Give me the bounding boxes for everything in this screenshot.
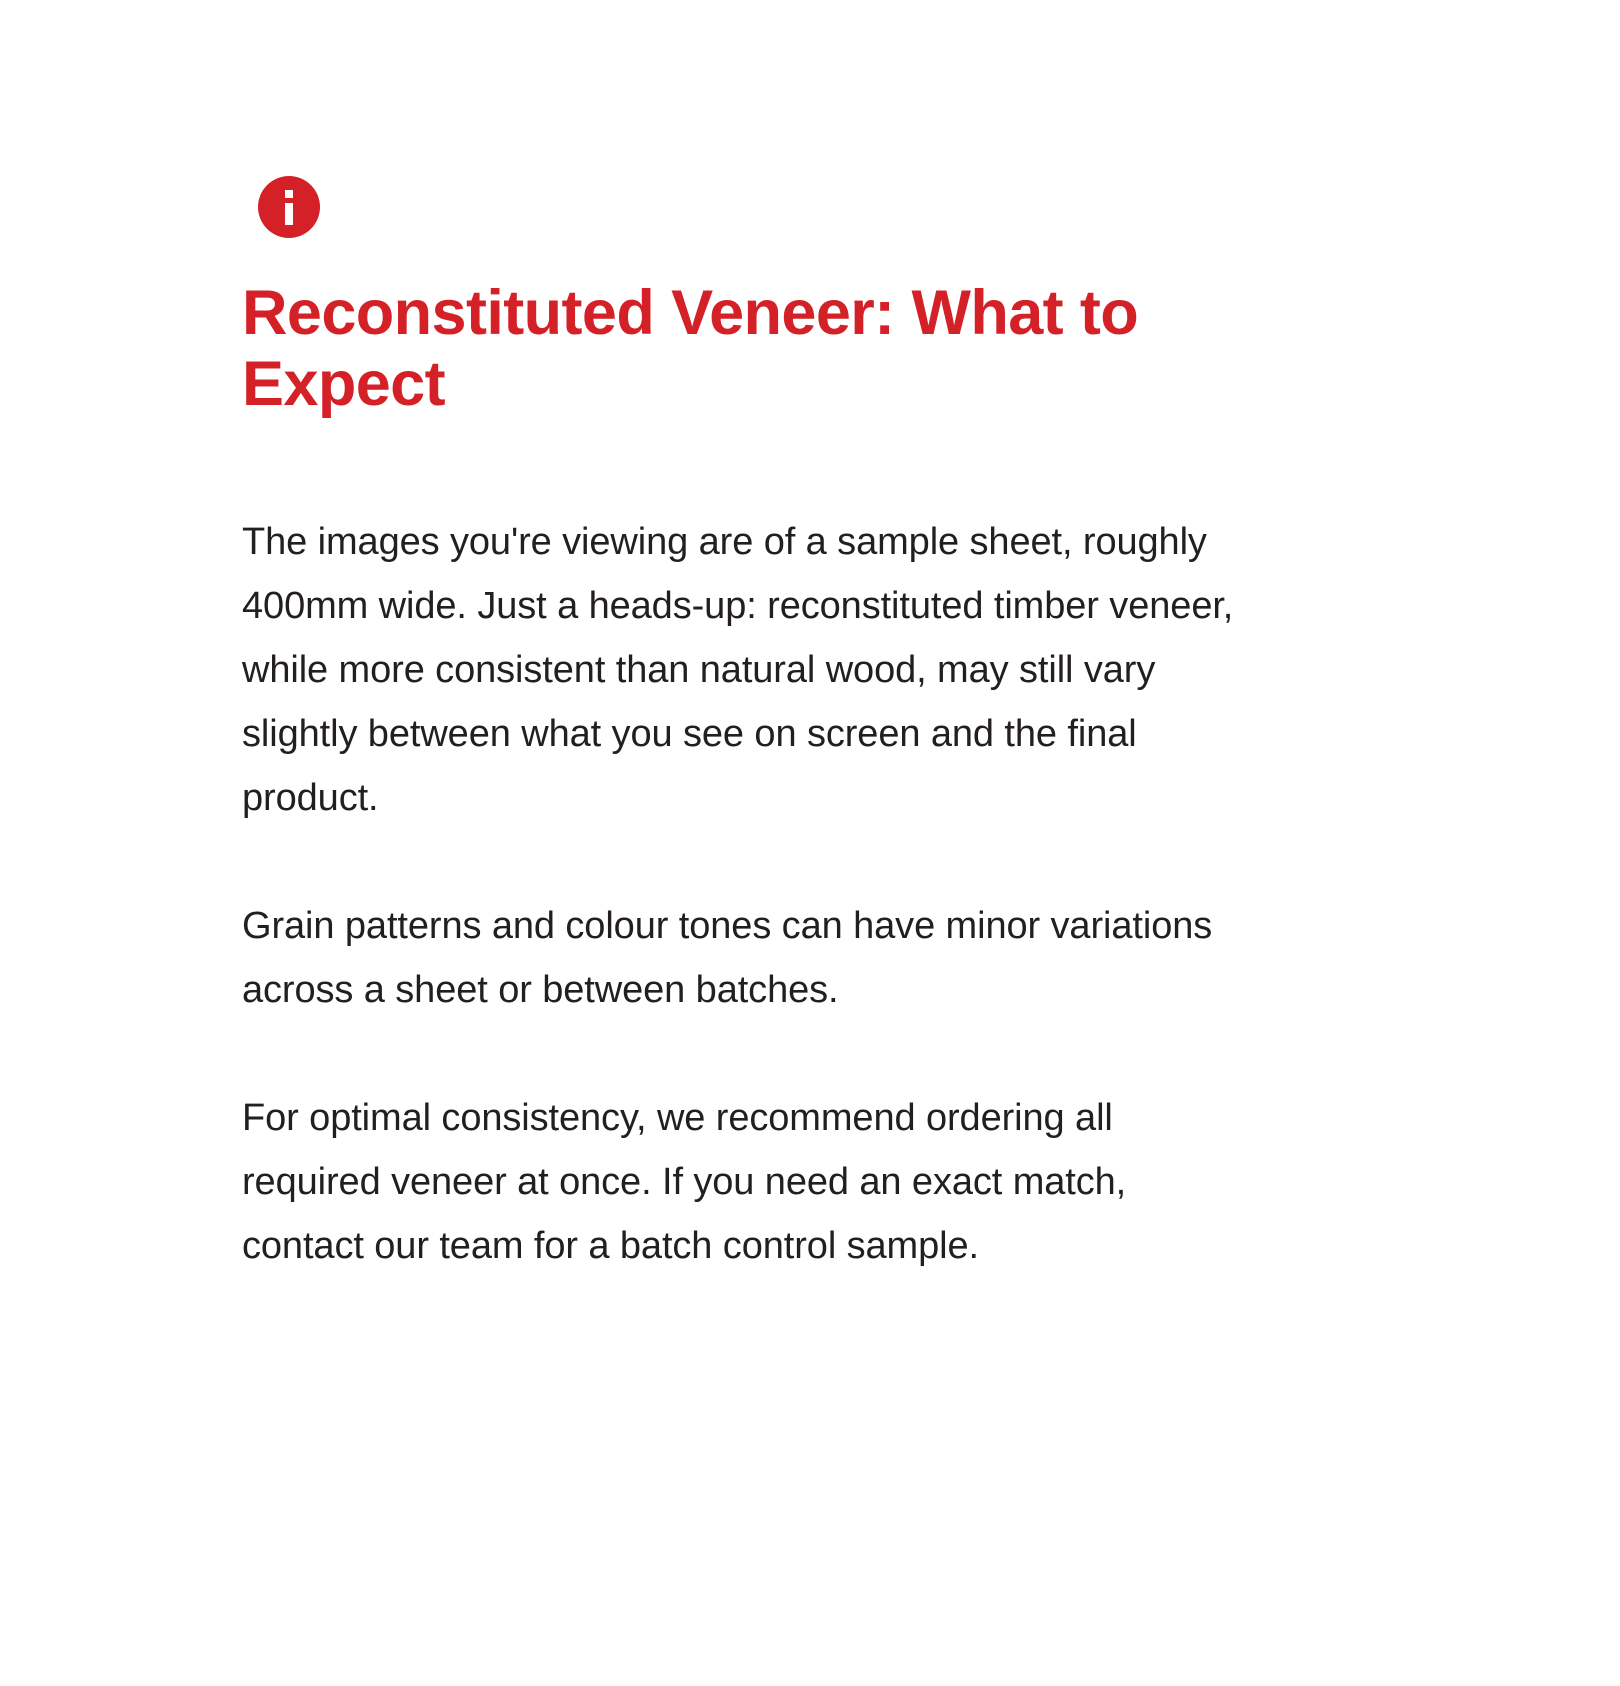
- page-title: Reconstituted Veneer: What to Expect: [242, 278, 1252, 420]
- info-icon-circle: [258, 176, 320, 238]
- notice-body: The images you're viewing are of a sampl…: [242, 510, 1252, 1278]
- notice-paragraph-2: Grain patterns and colour tones can have…: [242, 894, 1252, 1022]
- info-icon: [258, 176, 320, 238]
- notice-paragraph-1: The images you're viewing are of a sampl…: [242, 510, 1252, 830]
- notice-paragraph-3: For optimal consistency, we recommend or…: [242, 1086, 1252, 1278]
- info-icon-dot: [285, 190, 293, 198]
- info-icon-stem: [285, 203, 293, 225]
